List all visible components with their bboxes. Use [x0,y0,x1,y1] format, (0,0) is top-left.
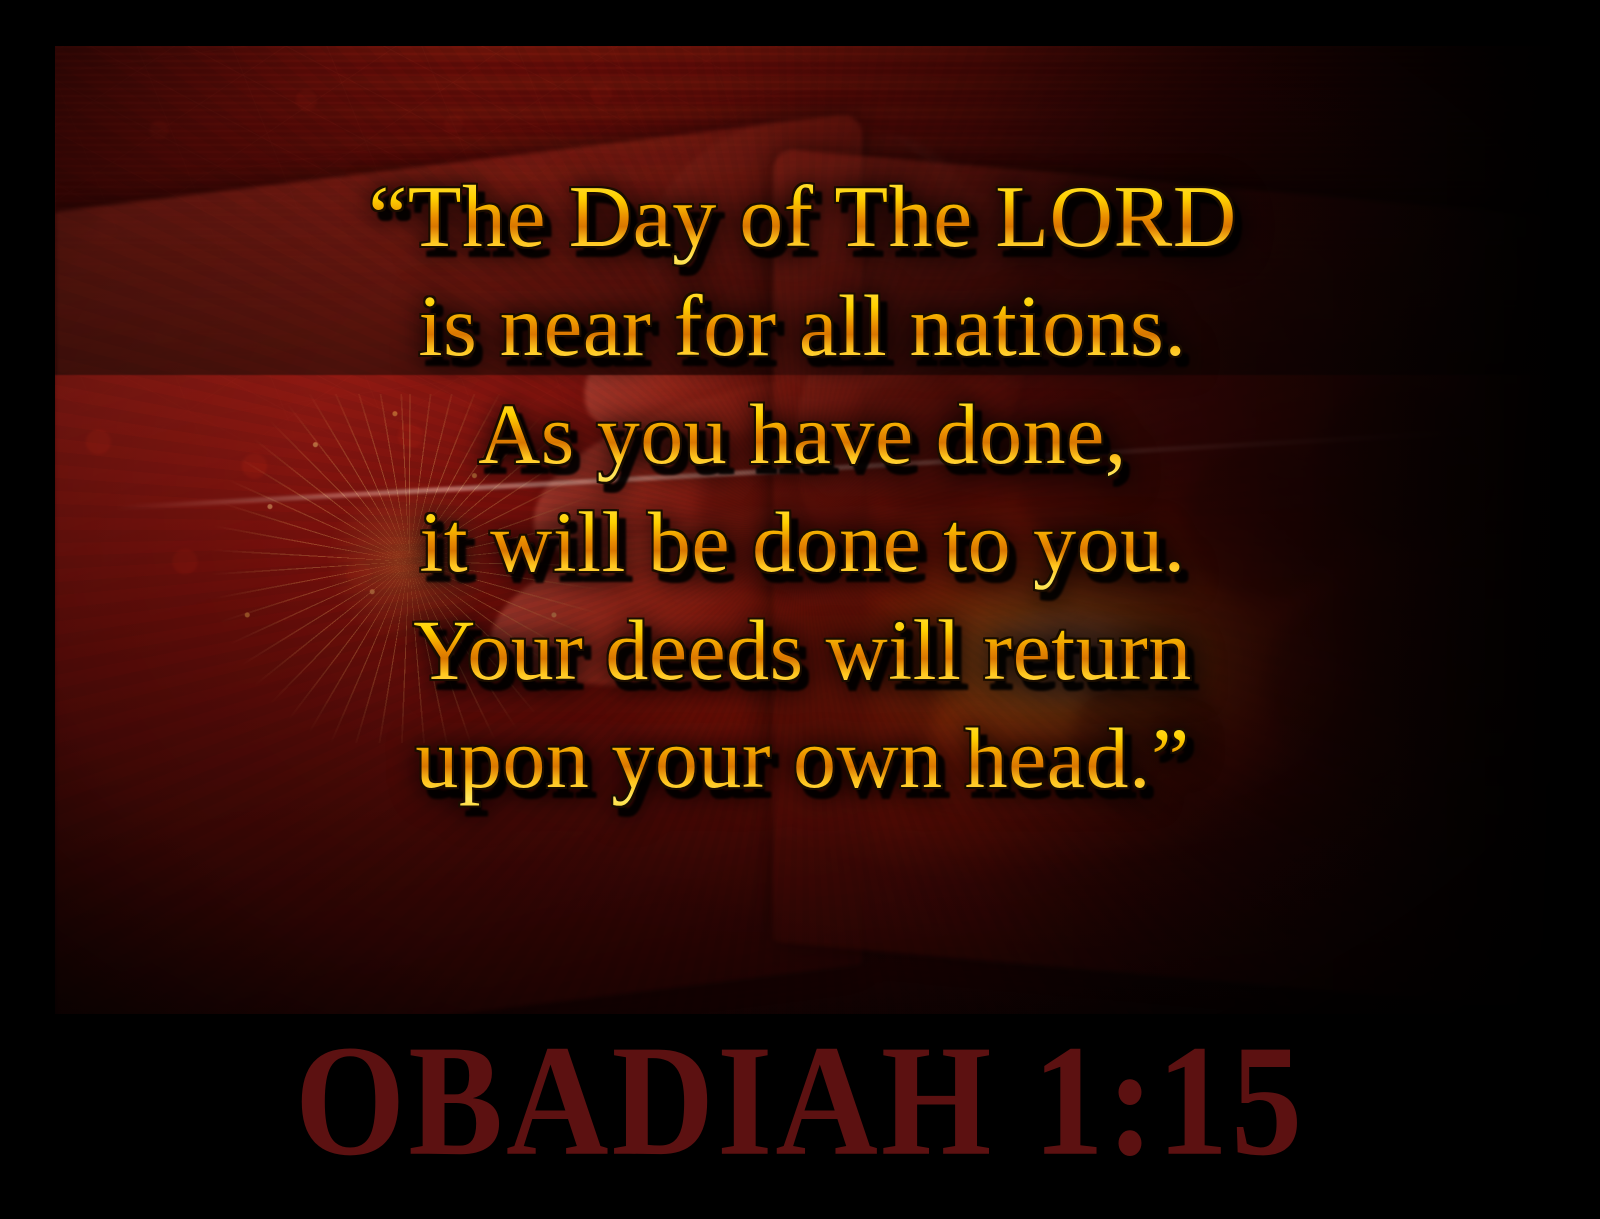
verse-line-2: is near for all nations. [83,272,1522,380]
verse-text-block: “The Day of The LORD is near for all nat… [55,164,1550,812]
verse-line-3: As you have done, [83,380,1522,488]
scripture-reference: OBADIAH 1:15 [0,1016,1600,1166]
verse-line-5: Your deeds will return [83,596,1522,704]
verse-line-1: “The Day of The LORD [83,164,1522,272]
verse-line-4: it will be done to you. [83,488,1522,596]
scripture-poster: “The Day of The LORD is near for all nat… [0,0,1600,1219]
verse-line-6: upon your own head.” [83,704,1522,812]
scripture-reference-text: OBADIAH 1:15 [295,1016,1305,1184]
artwork-panel: “The Day of The LORD is near for all nat… [55,46,1550,1014]
